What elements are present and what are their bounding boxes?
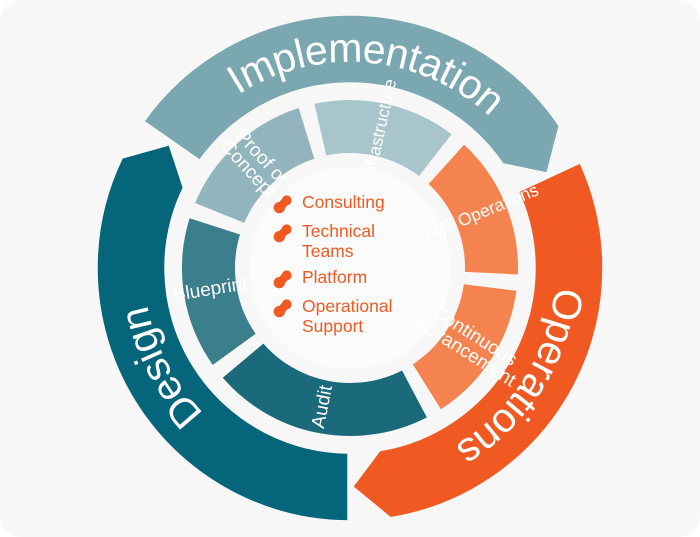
double-dot-bullet-icon <box>272 268 294 290</box>
list-item: Operational Support <box>272 296 442 336</box>
diagram-canvas: DesignImplementationOperationsBlueprintP… <box>0 0 700 537</box>
double-dot-bullet-icon <box>272 193 294 215</box>
list-item: Technical Teams <box>272 221 442 261</box>
list-item-label: Consulting <box>302 192 385 212</box>
double-dot-bullet-icon <box>272 297 294 319</box>
list-item: Platform <box>272 267 442 290</box>
list-item-label: Technical Teams <box>302 221 375 261</box>
list-item: Consulting <box>272 192 442 215</box>
list-item-label: Operational Support <box>302 296 392 336</box>
list-item-label: Platform <box>302 267 367 287</box>
center-service-list: Consulting Technical Teams Platform <box>272 192 442 342</box>
double-dot-bullet-icon <box>272 222 294 244</box>
